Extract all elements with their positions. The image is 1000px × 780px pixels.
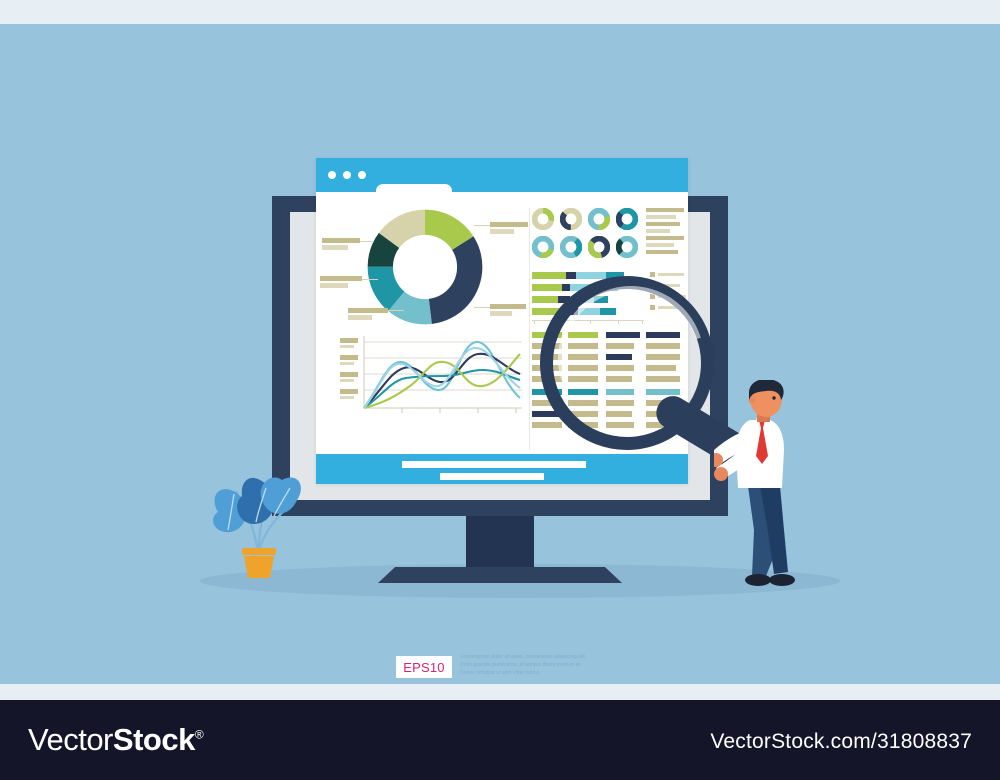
donut-callout-4 [490,222,528,234]
kpi-donut-3 [588,208,610,230]
vectorstock-footer: VectorStock® VectorStock.com/31808837 [0,700,1000,780]
kpi-donut-6 [560,236,582,258]
logo-text-stock: Stock [113,722,195,757]
monitor-stand-neck [466,516,534,572]
kpi-donut-1 [532,208,554,230]
shoe-left [745,574,771,586]
monitor-stand-base [378,567,622,583]
leader-line-3 [388,310,404,311]
kpi-donut-8 [616,236,638,258]
footer-bar-2 [440,473,544,480]
illustration-canvas: EPS10 Lorem ipsum dolor sit amet, consec… [0,24,1000,684]
shoe-right [769,574,795,586]
browser-titlebar [316,158,688,192]
y-tick-sublabel-2 [340,362,354,365]
kpi-donut-7 [588,236,610,258]
kpi-donut-5 [532,236,554,258]
y-tick-label-4 [340,389,358,394]
column-divider [529,208,530,450]
hand-right [714,467,728,481]
eps-badge: EPS10 [396,656,452,678]
magnifying-glass[interactable] [540,276,740,516]
donut-slice-f [380,222,469,311]
window-dot-close-icon[interactable] [328,171,336,179]
logo-text-vector: Vector [28,722,113,757]
kpi-donut-4 [616,208,638,230]
y-tick-label-1 [340,338,358,343]
donut-callout-1 [322,238,360,250]
kpi-side-text [646,208,688,257]
leader-line-2 [362,279,378,280]
donut-callout-3 [348,308,388,320]
eye [772,396,775,399]
pot-body [244,556,274,578]
browser-tab[interactable] [376,184,452,200]
window-dot-maximize-icon[interactable] [358,171,366,179]
y-tick-label-3 [340,372,358,377]
eps-credit-block: EPS10 Lorem ipsum dolor sit amet, consec… [396,654,626,684]
registered-trademark-icon: ® [195,728,203,742]
eps-line-2: Proin gravida purus eros, at tempor libe… [460,662,626,669]
multi-line-chart [340,332,526,424]
businessman [714,380,824,594]
vectorstock-url: VectorStock.com/31808837 [710,730,972,754]
y-tick-label-2 [340,355,358,360]
donut-callout-5 [490,304,526,316]
potted-plant [206,448,310,580]
y-tick-sublabel-3 [340,379,354,382]
y-tick-sublabel-4 [340,396,354,399]
window-dot-minimize-icon[interactable] [343,171,351,179]
kpi-donut-row [532,208,640,260]
leader-line-4 [474,225,490,226]
leader-line-1 [360,241,374,242]
y-tick-sublabel-1 [340,345,354,348]
kpi-donut-2 [560,208,582,230]
illustration-page: EPS10 Lorem ipsum dolor sit amet, consec… [0,0,1000,780]
eps-line-1: Lorem ipsum dolor sit amet, consectetur … [460,654,626,661]
eps-line-3: Donec volutpat ut sem vitae varius. [460,670,626,677]
eps-description: Lorem ipsum dolor sit amet, consectetur … [460,654,626,678]
pot-rim [242,548,276,555]
dashboard-left-column [322,204,528,454]
vectorstock-logo: VectorStock® [28,722,203,758]
donut-callout-2 [320,276,362,288]
leader-line-5 [474,307,490,308]
